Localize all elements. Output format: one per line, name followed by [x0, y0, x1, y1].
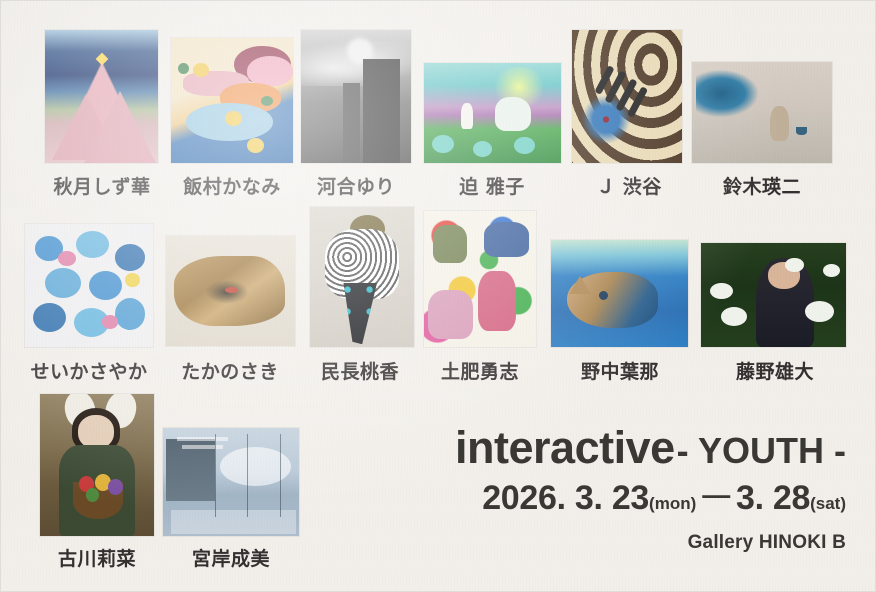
artwork-canvas [310, 207, 414, 347]
artwork-thumbnail-sako[interactable] [424, 63, 561, 163]
artwork-canvas [301, 30, 411, 163]
date-end: 3. 28 [736, 479, 810, 517]
artist-name-suzuki: 鈴木瑛二 [688, 172, 836, 199]
speckle-yellow [125, 273, 140, 287]
mullion [280, 434, 281, 516]
shape-yellow-dot [193, 63, 209, 77]
artwork-thumbnail-nonaka[interactable] [551, 240, 688, 347]
floor-slab [171, 510, 296, 534]
white-horse [495, 97, 531, 131]
flower-dot3 [514, 137, 535, 154]
flower [710, 283, 733, 300]
artwork-thumbnail-seika[interactable] [25, 224, 153, 347]
shape-pink [247, 56, 293, 86]
artwork-thumbnail-fujino[interactable] [701, 243, 846, 347]
exhibition-title: interactive- YOUTH - [406, 424, 846, 471]
title-subtitle-text: - YOUTH - [677, 430, 846, 471]
fruit [86, 488, 100, 502]
figure [433, 225, 467, 263]
flower [721, 307, 747, 326]
girl-figure [461, 103, 473, 129]
mullion [247, 434, 248, 516]
flower-dot [432, 135, 454, 153]
shape-leaf [178, 63, 189, 74]
exhibition-poster: 秋月しず華 飯村かなみ 河合ゆり [0, 0, 876, 592]
artwork-canvas [45, 30, 158, 163]
artwork-thumbnail-iimura[interactable] [171, 38, 293, 163]
speckle [45, 268, 81, 298]
tree-shape-right [84, 91, 156, 163]
artist-name-kawai: 河合ゆり [282, 172, 430, 199]
flower-dot2 [473, 141, 492, 157]
figure [484, 222, 529, 257]
shape-yellow-dot3 [247, 138, 264, 153]
artwork-canvas [424, 211, 536, 347]
shape-leaf2 [261, 96, 273, 106]
title-block: interactive- YOUTH - 2026. 3. 23(mon)—3.… [406, 424, 846, 554]
artwork-thumbnail-kawai[interactable] [301, 30, 411, 163]
artist-name-furukawa: 古川莉菜 [23, 544, 171, 571]
artwork-canvas [163, 428, 299, 536]
artist-name-fujino: 藤野雄大 [701, 357, 849, 384]
blue-shadow [696, 70, 758, 116]
bowl-shape [796, 127, 807, 135]
artwork-canvas [166, 236, 295, 346]
artist-name-seika: せいかさやか [15, 357, 163, 384]
artist-name-jshibuya: Ｊ 渋谷 [555, 172, 703, 199]
artwork-canvas [572, 30, 682, 163]
ceiling-slab [182, 445, 223, 448]
artist-name-akizuki: 秋月しず華 [28, 172, 176, 199]
date-start: 2026. 3. 23 [482, 479, 649, 517]
exhibition-dates: 2026. 3. 23(mon)—3. 28(sat) [406, 479, 846, 518]
polkadot-skirt [341, 283, 378, 345]
title-main-text: interactive [455, 422, 675, 473]
artwork-thumbnail-suzuki[interactable] [692, 62, 832, 163]
speckle-pink [58, 251, 76, 266]
artwork-thumbnail-akizuki[interactable] [45, 30, 158, 163]
speckle [33, 303, 66, 333]
artwork-thumbnail-furukawa[interactable] [40, 394, 154, 536]
artwork-canvas [25, 224, 153, 347]
speckle [115, 298, 146, 330]
shape-yellow-dot2 [225, 111, 242, 126]
artwork-canvas [424, 63, 561, 163]
dog-figure [770, 106, 788, 140]
artist-name-sako: 迫 雅子 [418, 172, 566, 199]
artwork-thumbnail-jshibuya[interactable] [572, 30, 682, 163]
silo-tower [363, 59, 400, 163]
date-separator: — [702, 479, 730, 510]
speckle [115, 244, 146, 271]
ceiling-slab [177, 437, 229, 441]
date-end-dayofweek: (sat) [810, 494, 846, 513]
speckle-pink [102, 315, 119, 329]
mullion [215, 434, 216, 516]
flower [823, 264, 840, 278]
artwork-thumbnail-miyagishi[interactable] [163, 428, 299, 536]
cat-ear [569, 276, 591, 294]
artwork-canvas [701, 243, 846, 347]
speckle [89, 271, 122, 301]
venue-name: Gallery HINOKI B [406, 532, 846, 554]
artist-name-dohi: 土肥勇志 [406, 357, 554, 384]
artwork-canvas [551, 240, 688, 347]
artwork-thumbnail-takano[interactable] [166, 236, 295, 346]
artist-name-nonaka: 野中葉那 [546, 357, 694, 384]
artwork-thumbnail-tamina[interactable] [310, 207, 414, 347]
fruit [108, 479, 123, 495]
flower [785, 258, 804, 273]
artist-name-takano: たかのさき [156, 357, 304, 384]
figure [428, 290, 473, 339]
artwork-canvas [40, 394, 154, 536]
artwork-thumbnail-dohi[interactable] [424, 211, 536, 347]
flower [805, 301, 834, 322]
figure [478, 271, 516, 331]
date-start-dayofweek: (mon) [649, 494, 696, 513]
artist-name-miyagishi: 宮岸成美 [157, 544, 305, 571]
speckle [76, 231, 109, 258]
artwork-canvas [692, 62, 832, 163]
artwork-canvas [171, 38, 293, 163]
pipe-structure [343, 83, 361, 163]
